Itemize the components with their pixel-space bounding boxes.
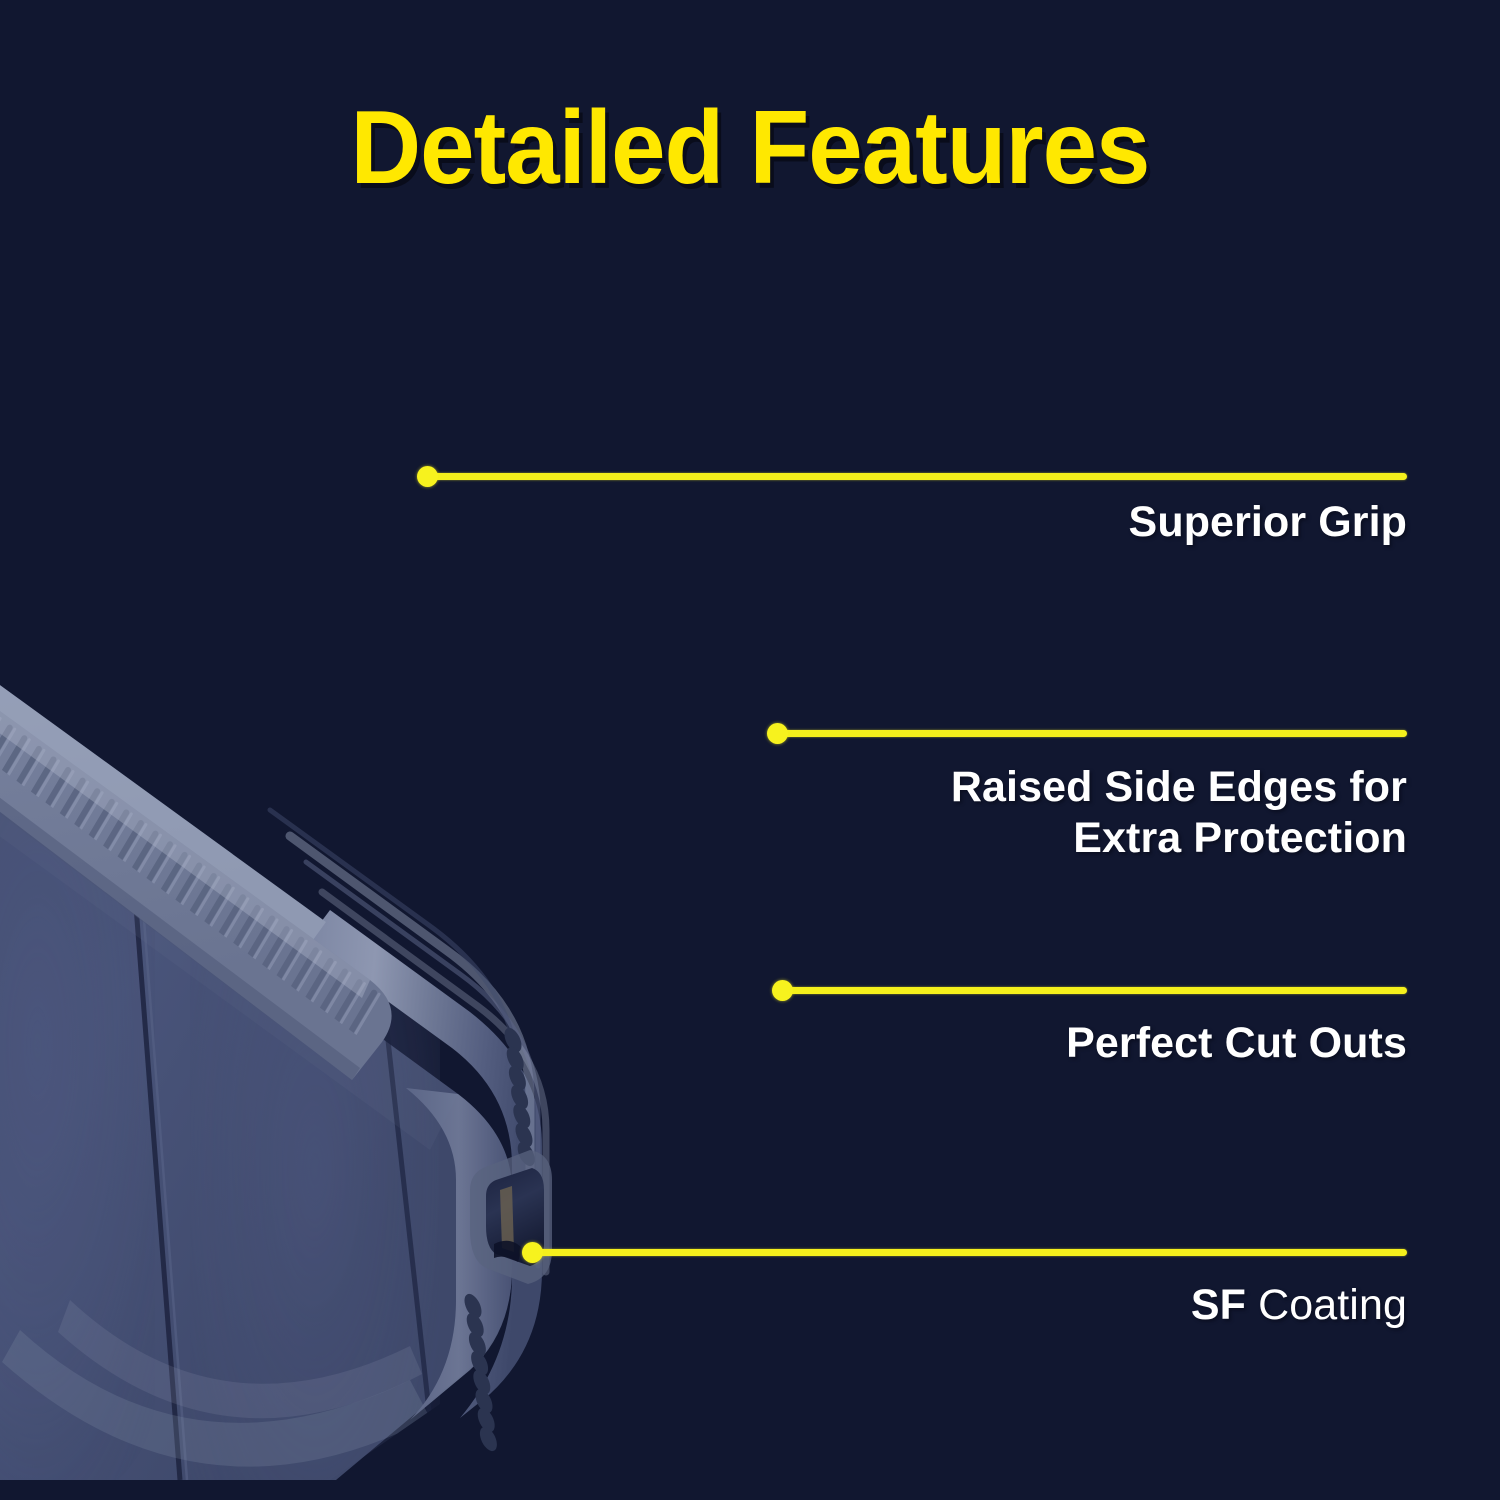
callout-label-sf-coating: SF Coating: [607, 1280, 1407, 1331]
infographic-canvas: Detailed Features: [0, 0, 1500, 1500]
callout-label-raised-side-edges: Raised Side Edges for Extra Protection: [607, 762, 1407, 863]
leader-dot-superior-grip: [417, 466, 438, 487]
leader-dot-sf-coating: [522, 1242, 543, 1263]
leader-dot-raised-side-edges: [767, 723, 788, 744]
charging-port-cutout: [470, 1150, 552, 1284]
leader-line-raised-side-edges: [777, 730, 1407, 737]
leader-line-perfect-cut-outs: [782, 987, 1407, 994]
leader-line-superior-grip: [427, 473, 1407, 480]
sf-coating-bold-part: SF: [1191, 1281, 1246, 1329]
callout-label-superior-grip: Superior Grip: [607, 497, 1407, 548]
leader-line-sf-coating: [532, 1249, 1407, 1256]
leader-dot-perfect-cut-outs: [772, 980, 793, 1001]
callout-label-perfect-cut-outs: Perfect Cut Outs: [607, 1018, 1407, 1069]
sf-coating-regular-part: Coating: [1246, 1281, 1407, 1329]
